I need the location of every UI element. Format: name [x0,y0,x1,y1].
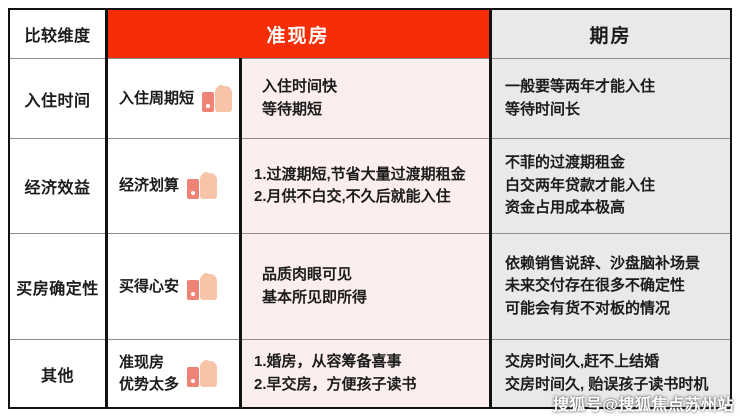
detail-line: 白交两年贷款才能入住 [505,175,724,198]
row-future-detail-text: 一般要等两年才能入住 等待时间长 [491,59,730,138]
row-ready-tag-label: 入住周期短 [119,88,194,110]
detail-line: 品质肉眼可见 [262,264,485,287]
detail-line: 交房时间久,赶不上结婚 [505,351,724,374]
header-dimension-cell: 比较维度 [10,10,105,58]
detail-line: 可能会有货不对板的情况 [505,298,724,321]
row-dimension-label: 买房确定性 [10,234,105,339]
row-ready-tag-label: 准现房 优势太多 [119,352,179,396]
row-ready-detail-cell: 1.婚房，从容筹备喜事 2.早交房，方便孩子读书 [240,340,491,407]
row-future-detail-cell: 依赖销售说辞、沙盘脑补场景 未来交付存在很多不确定性 可能会有货不对板的情况 [491,234,730,339]
row-future-detail-cell: 交房时间久,赶不上结婚 交房时间久, 贻误孩子读书时机 [491,340,730,407]
thumbs-up-icon [187,361,217,387]
header-future-cell: 期房 [491,10,730,58]
row-dimension-cell: 经济效益 [10,139,105,233]
row-ready-tag-cell: 买得心安 [105,234,240,339]
header-ready-cell: 准现房 [105,10,491,58]
row-future-detail-text: 依赖销售说辞、沙盘脑补场景 未来交付存在很多不确定性 可能会有货不对板的情况 [491,234,730,339]
thumbs-up-icon [187,274,217,300]
row-future-detail-text: 交房时间久,赶不上结婚 交房时间久, 贻误孩子读书时机 [491,340,730,407]
detail-line: 不菲的过渡期租金 [505,152,724,175]
detail-line: 1.过渡期短,节省大量过渡期租金 [254,164,485,187]
detail-line: 入住时间快 [262,76,485,99]
detail-line: 一般要等两年才能入住 [505,76,724,99]
row-dimension-cell: 其他 [10,340,105,407]
row-ready-tag-label: 经济划算 [119,175,179,197]
detail-line: 基本所见即所得 [262,287,485,310]
comparison-table-page: 比较维度 准现房 期房 入住时间 入住周期短 入住时间快 等待期短 [0,0,740,417]
detail-line: 2.早交房，方便孩子读书 [254,374,485,397]
column-rule-1 [105,10,108,407]
row-ready-detail-cell: 1.过渡期短,节省大量过渡期租金 2.月供不白交,不久后就能入住 [240,139,491,233]
detail-line: 未来交付存在很多不确定性 [505,275,724,298]
row-future-detail-text: 不菲的过渡期租金 白交两年贷款才能入住 资金占用成本极高 [491,139,730,233]
row-ready-detail-cell: 品质肉眼可见 基本所见即所得 [240,234,491,339]
column-rule-2 [239,58,242,407]
detail-line: 依赖销售说辞、沙盘脑补场景 [505,253,724,276]
detail-line: 等待期短 [262,99,485,122]
row-future-detail-cell: 一般要等两年才能入住 等待时间长 [491,59,730,138]
row-ready-detail-text: 1.过渡期短,节省大量过渡期租金 2.月供不白交,不久后就能入住 [240,139,491,233]
detail-line: 资金占用成本极高 [505,197,724,220]
row-ready-detail-text: 品质肉眼可见 基本所见即所得 [240,234,491,339]
row-dimension-label: 经济效益 [10,139,105,233]
comparison-table: 比较维度 准现房 期房 入住时间 入住周期短 入住时间快 等待期短 [8,8,732,409]
detail-line: 交房时间久, 贻误孩子读书时机 [505,374,724,397]
row-ready-tag-cell: 入住周期短 [105,59,240,138]
header-future-label: 期房 [491,10,730,58]
column-rule-3 [489,10,492,407]
row-ready-detail-cell: 入住时间快 等待期短 [240,59,491,138]
thumbs-up-icon [202,86,232,112]
row-future-detail-cell: 不菲的过渡期租金 白交两年贷款才能入住 资金占用成本极高 [491,139,730,233]
header-ready-label: 准现房 [105,10,491,58]
detail-line: 等待时间长 [505,99,724,122]
row-ready-detail-text: 1.婚房，从容筹备喜事 2.早交房，方便孩子读书 [240,340,491,407]
header-dimension-label: 比较维度 [10,10,105,58]
detail-line: 1.婚房，从容筹备喜事 [254,351,485,374]
row-ready-tag-cell: 经济划算 [105,139,240,233]
row-dimension-label: 其他 [10,340,105,407]
row-dimension-cell: 入住时间 [10,59,105,138]
row-ready-tag-cell: 准现房 优势太多 [105,340,240,407]
detail-line: 2.月供不白交,不久后就能入住 [254,186,485,209]
row-dimension-label: 入住时间 [10,59,105,138]
thumbs-up-icon [187,173,217,199]
row-ready-detail-text: 入住时间快 等待期短 [240,59,491,138]
row-dimension-cell: 买房确定性 [10,234,105,339]
row-ready-tag-label: 买得心安 [119,276,179,298]
